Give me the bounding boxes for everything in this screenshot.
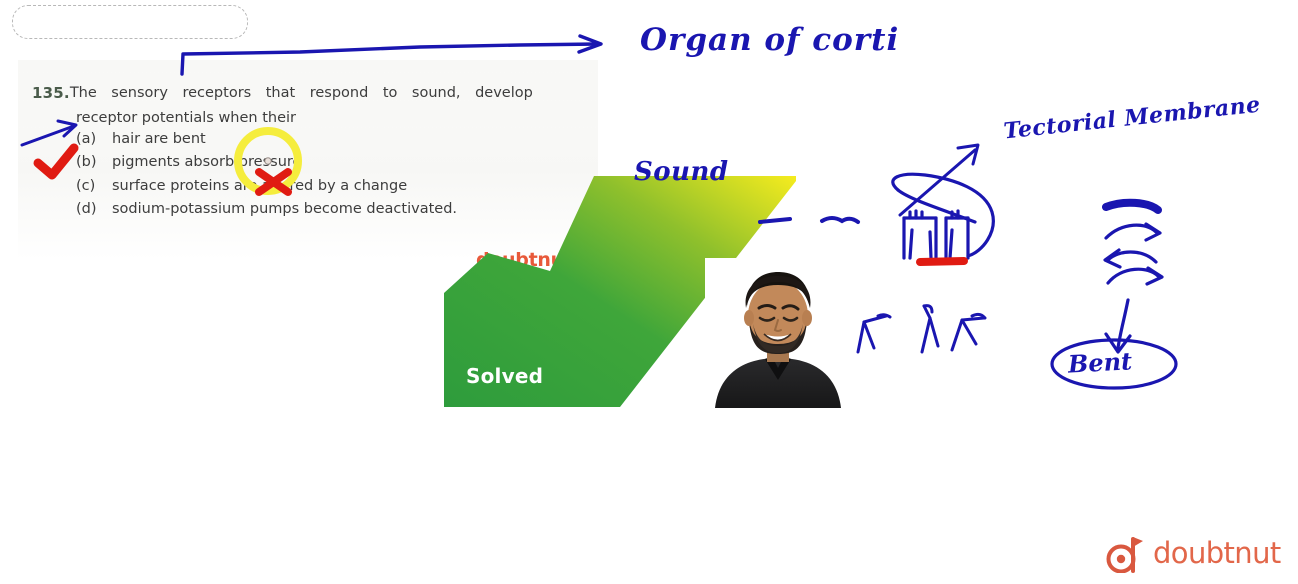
question-stem-text-1: The sensory receptors that respond to so… (70, 86, 533, 101)
option-row-a[interactable]: (a) hair are bent (76, 132, 572, 147)
option-row-b[interactable]: (b) pigments absorb pressure (76, 155, 572, 170)
option-text-a: hair are bent (112, 132, 206, 147)
option-key-b: (b) (76, 155, 112, 170)
annotation-sound: Sound (634, 157, 729, 187)
doubtnut-mark-icon (1106, 533, 1144, 573)
option-key-d: (d) (76, 202, 112, 217)
empty-dotted-box[interactable] (12, 5, 248, 39)
hair-cell-diagram (893, 174, 994, 258)
bent-hair-cells-sketch (858, 306, 985, 352)
motion-arrows (1105, 203, 1162, 352)
annotation-organ-of-corti: Organ of corti (640, 22, 899, 58)
question-stem-line-1: 135.The sensory receptors that respond t… (32, 86, 572, 102)
red-basilar-membrane (920, 261, 964, 262)
option-key-c: (c) (76, 179, 112, 194)
arrow-to-tectorial-membrane (900, 145, 978, 215)
video-frame: 135.The sensory receptors that respond t… (0, 0, 1298, 584)
solved-label: Solved (466, 364, 543, 388)
option-key-a: (a) (76, 132, 112, 147)
option-text-b: pigments absorb pressure (112, 155, 301, 170)
question-stem-line-2: receptor potentials when their (76, 110, 572, 126)
doubtnut-wordmark: doubtnut (1153, 536, 1281, 570)
presenter-photo (705, 258, 851, 408)
doubtnut-logo[interactable]: doubtnut (1106, 533, 1281, 573)
option-text-c: surface proteins are altered by a change (112, 179, 407, 194)
option-text-d: sodium-potassium pumps become deactivate… (112, 202, 457, 217)
annotation-bent: Bent (1067, 346, 1133, 378)
question-number: 135. (32, 84, 70, 102)
annotation-tectorial-membrane: Tectorial Membrane (1002, 92, 1261, 145)
